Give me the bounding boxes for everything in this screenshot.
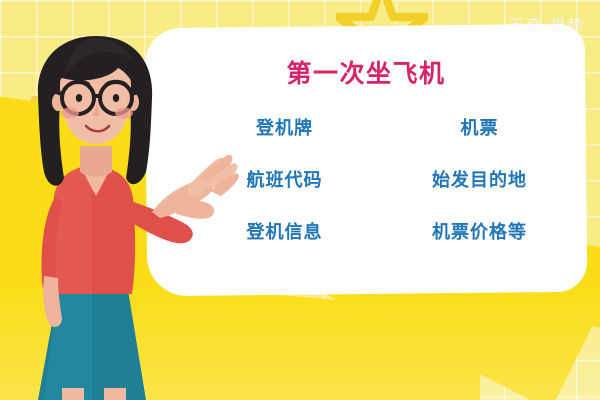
presenter-character-icon [0, 0, 260, 400]
list-item: 机票 [387, 114, 572, 140]
watermark: 天奇·视频 [509, 14, 584, 35]
list-item: 始发目的地 [387, 166, 572, 192]
video-frame: 第一次坐飞机 登机牌 机票 航班代码 始发目的地 登机信息 机票价格等 [0, 0, 600, 400]
list-item: 机票价格等 [387, 218, 572, 244]
